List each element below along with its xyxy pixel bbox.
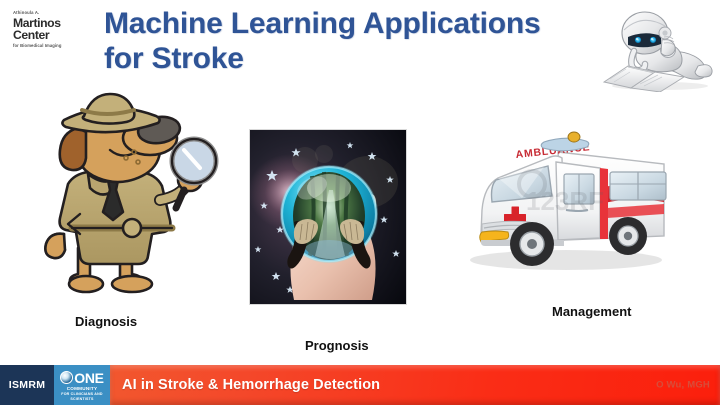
footer-author: O Wu, MGH [656, 380, 710, 391]
crystal-ball-photo [249, 129, 407, 305]
ismrm-wordmark: ISMRM [9, 379, 46, 391]
one-subtitle-community: COMMUNITY [67, 386, 98, 391]
ambulance-icon: AMBLUANCE [452, 118, 678, 286]
footer-bar: ISMRM ONE COMMUNITY FOR CLINICIANS AND S… [0, 365, 720, 405]
title-line-1: Machine Learning Applications [104, 6, 594, 41]
logo-line-sub: for Biomedical Imaging [13, 44, 75, 48]
one-community-logo-block: ONE COMMUNITY FOR CLINICIANS AND SCIENTI… [54, 365, 110, 405]
detective-dog-icon [28, 88, 224, 300]
martinos-center-logo: Athinoula A. Martinos Center for Biomedi… [13, 11, 75, 55]
one-logo-row: ONE [60, 371, 103, 385]
ambulance-illustration: AMBLUANCE [452, 118, 678, 286]
presentation-slide: Athinoula A. Martinos Center for Biomedi… [0, 0, 720, 405]
logo-line-center: Center [13, 29, 75, 41]
logo-line-top: Athinoula A. [13, 11, 75, 15]
svg-text:123RF: 123RF [526, 186, 604, 216]
one-subtitle-audience: FOR CLINICIANS AND SCIENTISTS [54, 392, 110, 402]
caption-prognosis: Prognosis [305, 338, 369, 353]
page-title: Machine Learning Applications for Stroke [104, 6, 594, 76]
caption-management: Management [552, 304, 631, 319]
title-line-2: for Stroke [104, 41, 594, 76]
crystal-ball-image [250, 130, 407, 305]
one-wordmark: ONE [74, 371, 103, 385]
detective-dog-illustration [28, 88, 224, 300]
robot-reading-book-illustration [598, 4, 716, 92]
ismrm-logo-block: ISMRM [0, 365, 54, 405]
caption-diagnosis: Diagnosis [75, 314, 137, 329]
globe-icon [60, 371, 73, 384]
footer-title-bar: AI in Stroke & Hemorrhage Detection O Wu… [110, 365, 720, 405]
footer-session-title: AI in Stroke & Hemorrhage Detection [122, 377, 380, 393]
robot-icon [598, 4, 716, 92]
